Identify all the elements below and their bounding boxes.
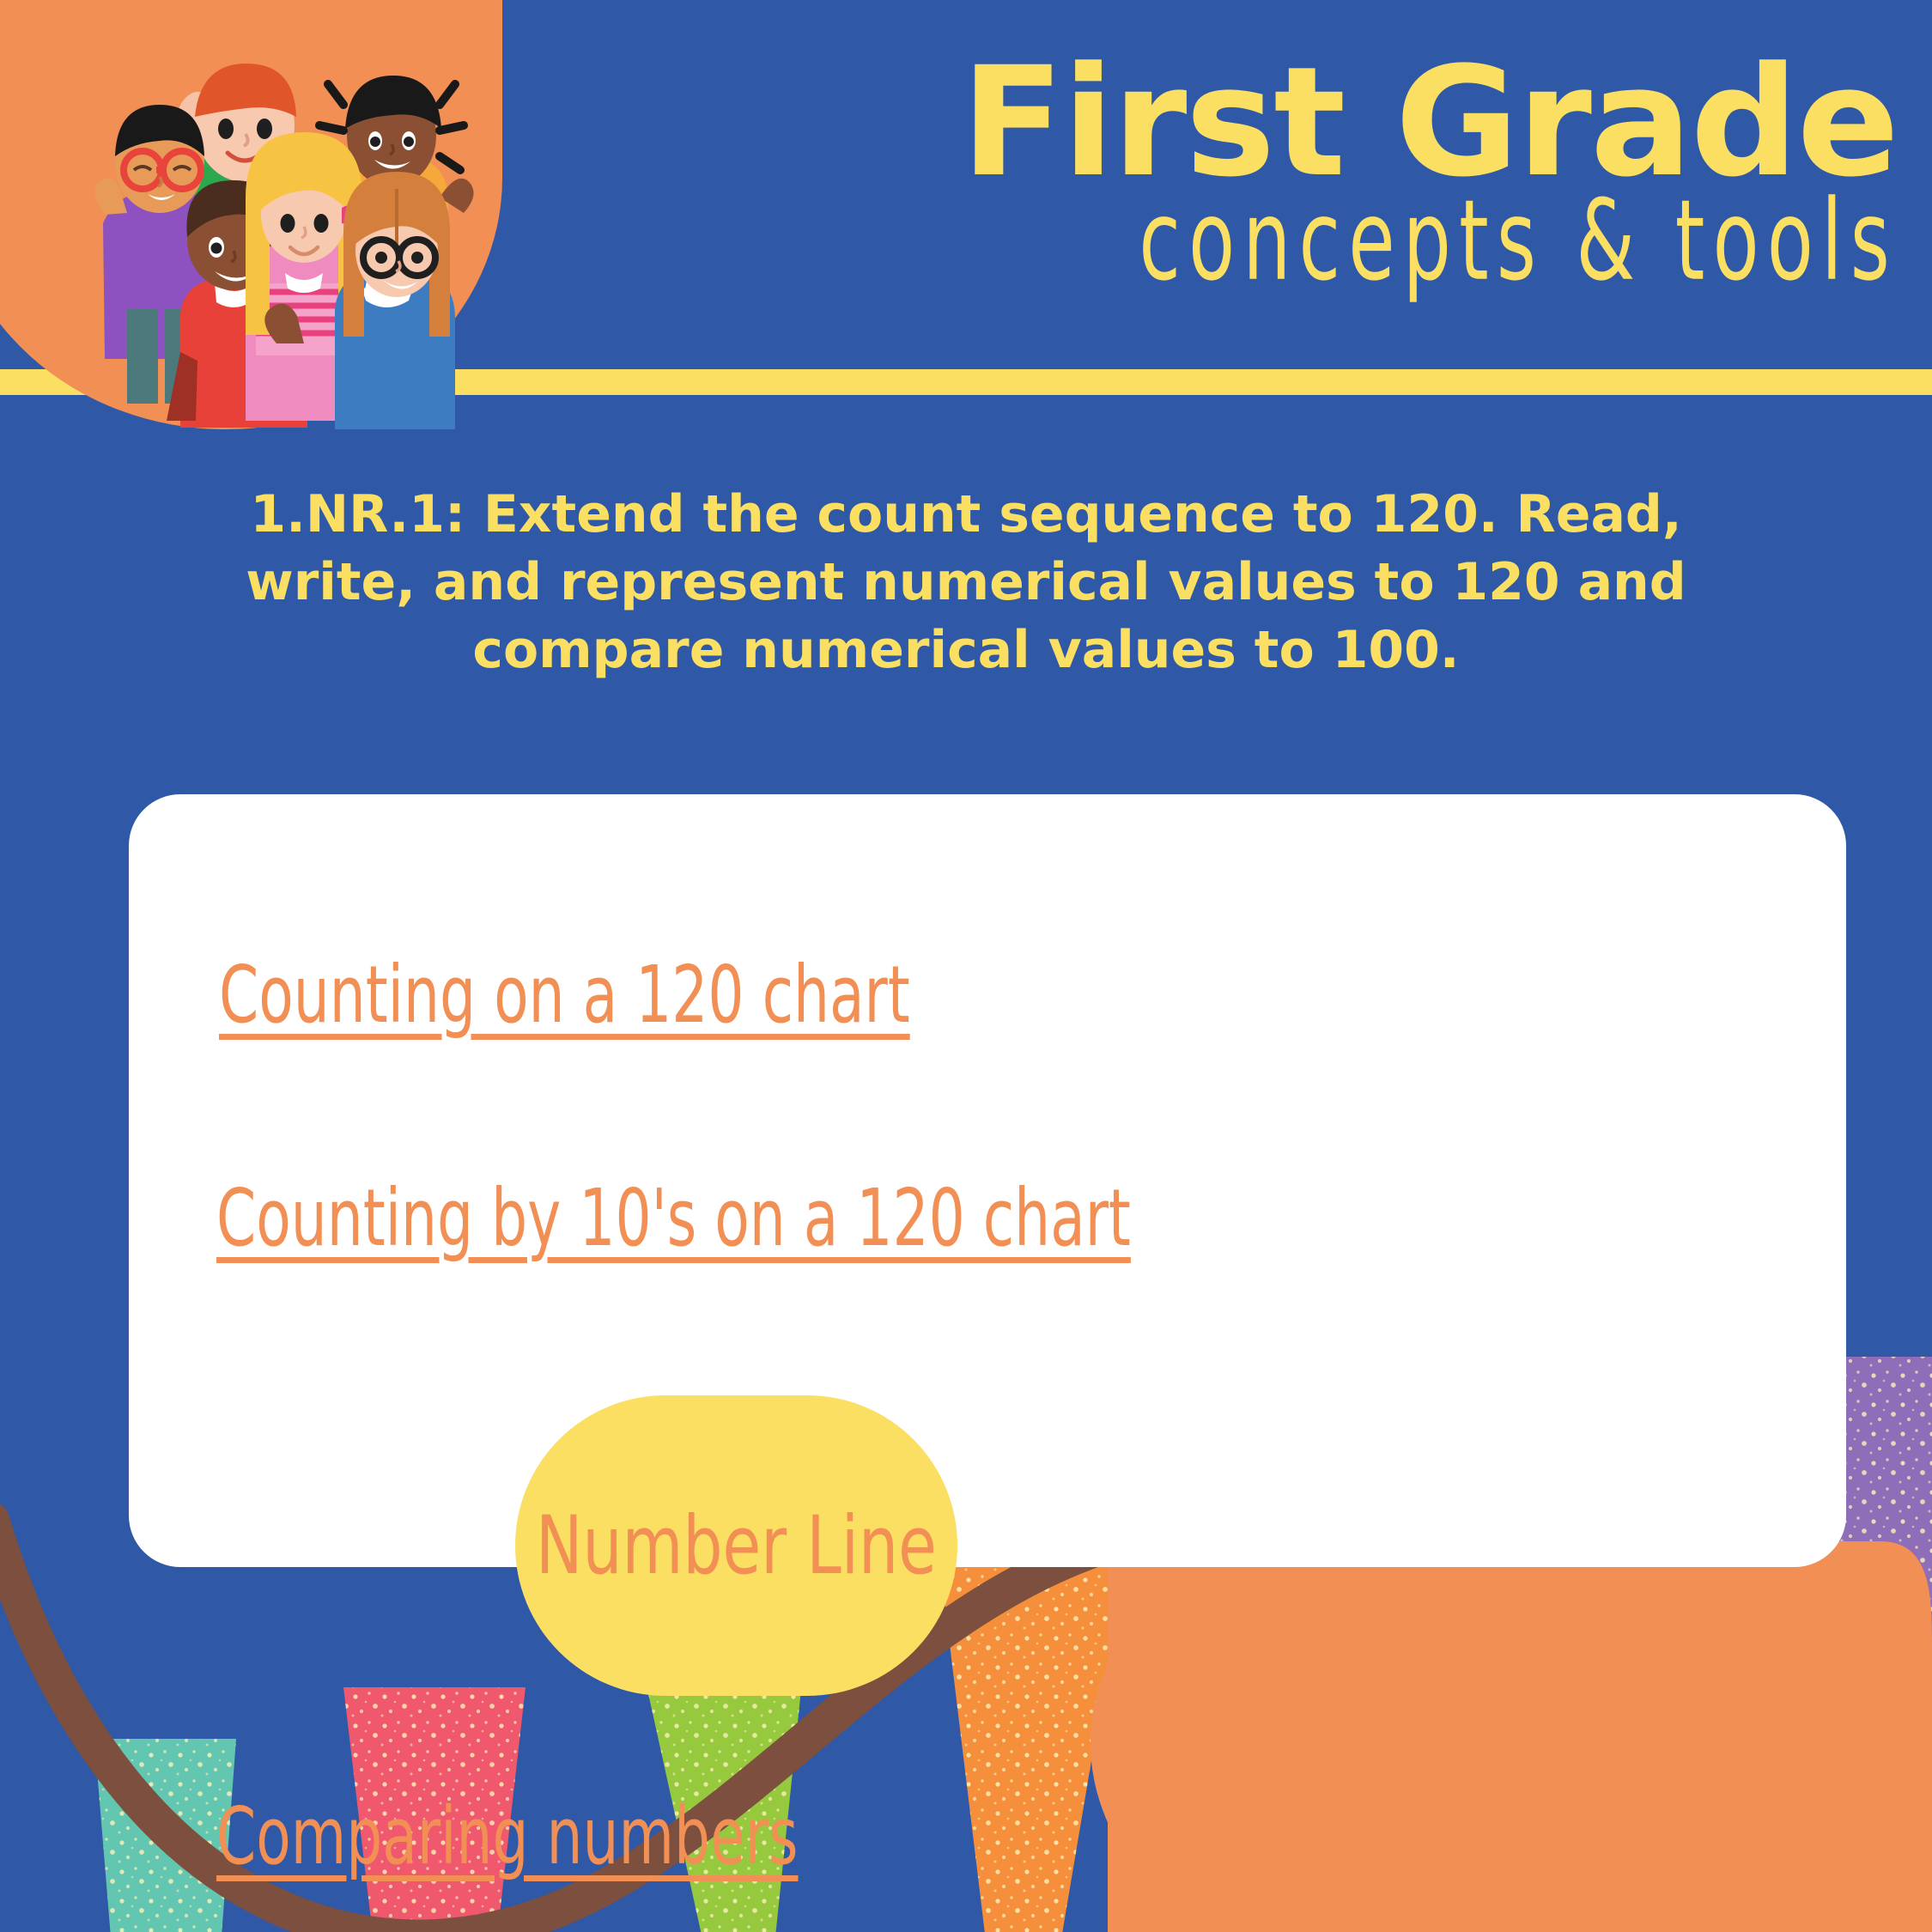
number-line-button[interactable]: Number Line [515, 1395, 957, 1696]
flag-teal [94, 1739, 236, 1932]
standard-statement: 1.NR.1: Extend the count sequence to 120… [193, 481, 1739, 685]
flag-orange [939, 1552, 1127, 1932]
link-counting-by-tens-120-chart[interactable]: Counting by 10's on a 120 chart [216, 1172, 1131, 1264]
link-counting-on-120-chart[interactable]: Counting on a 120 chart [219, 949, 910, 1041]
poster-canvas: First Grade concepts & tools 1.NR.1: Ext… [0, 0, 1932, 1932]
page-subtitle: concepts & tools [847, 185, 1898, 296]
child-blue-glasses [335, 172, 455, 429]
number-line-button-label: Number Line [536, 1499, 937, 1593]
poster-header: First Grade concepts & tools [756, 47, 1898, 296]
children-group-illustration [52, 26, 498, 429]
orange-corner-blob [1108, 1540, 1932, 1932]
link-comparing-numbers[interactable]: Comparing numbers [216, 1790, 799, 1882]
resource-card: Counting on a 120 chart Counting by 10's… [129, 794, 1846, 1567]
